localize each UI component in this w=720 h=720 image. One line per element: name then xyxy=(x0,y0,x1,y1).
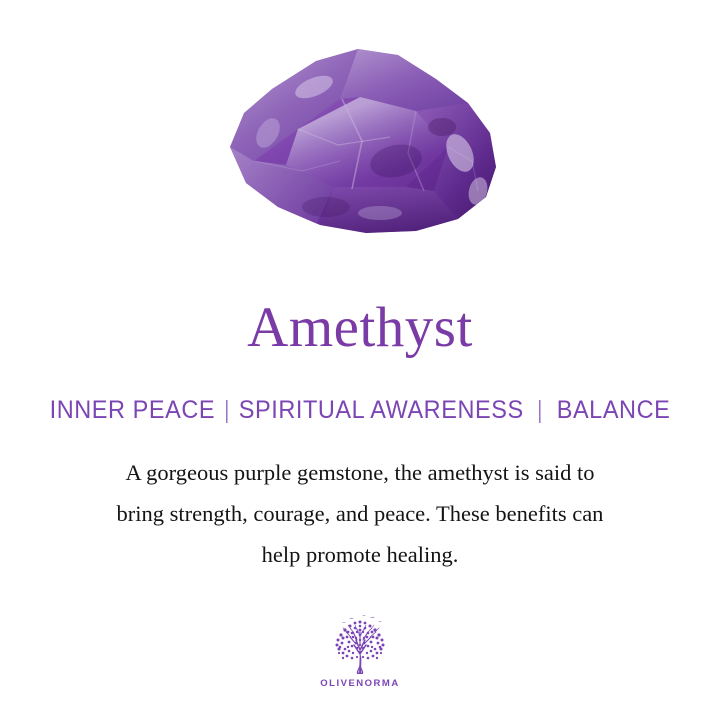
page-title: Amethyst xyxy=(0,298,720,358)
brand-wordmark: OLIVENORMA xyxy=(320,678,399,689)
description-line-1: A gorgeous purple gemstone, the amethyst… xyxy=(50,452,670,493)
attribute-separator: | xyxy=(220,396,234,425)
description-line-2: bring strength, courage, and peace. Thes… xyxy=(50,493,670,534)
gemstone-image-container xyxy=(0,0,720,282)
amethyst-info-card: Amethyst INNER PEACE|SPIRITUAL AWARENESS… xyxy=(0,0,720,720)
raw-amethyst-crystal-image xyxy=(210,41,510,241)
description-text: A gorgeous purple gemstone, the amethyst… xyxy=(50,452,670,575)
attribute-inner-peace: INNER PEACE xyxy=(50,396,216,424)
attribute-spiritual-awareness: SPIRITUAL AWARENESS xyxy=(239,396,524,424)
description-line-3: help promote healing. xyxy=(50,534,670,575)
attributes-line: INNER PEACE|SPIRITUAL AWARENESS|BALANCE xyxy=(22,396,699,425)
brand-logo: OLIVENORMA xyxy=(0,614,720,689)
tree-of-life-icon xyxy=(326,614,394,676)
attribute-separator: | xyxy=(530,396,550,425)
attribute-balance: BALANCE xyxy=(557,396,671,424)
